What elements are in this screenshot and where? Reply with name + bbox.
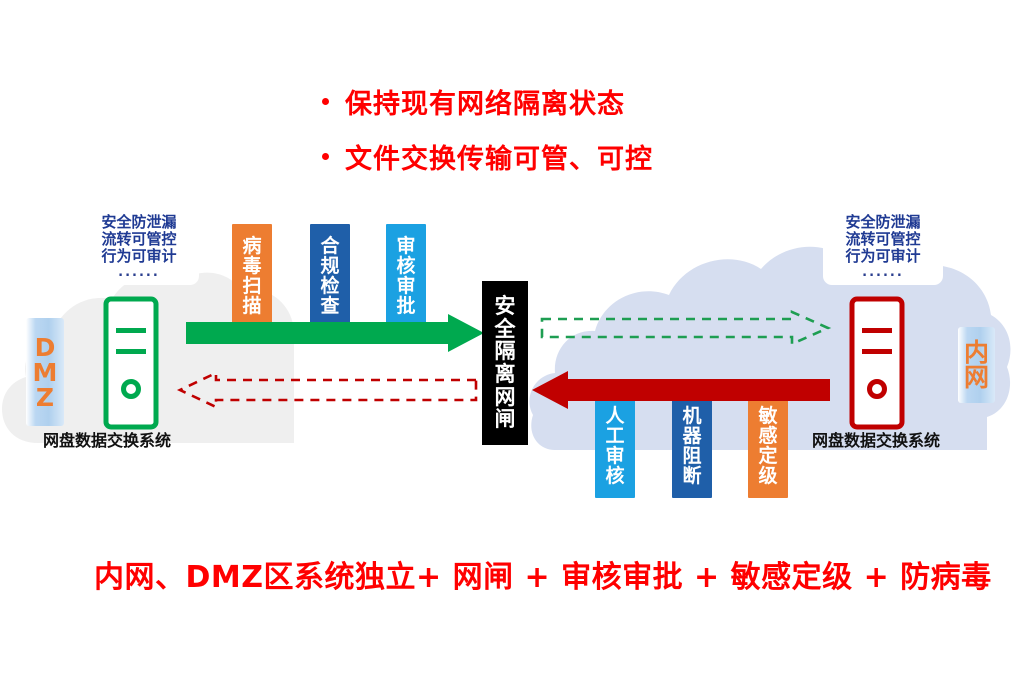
chip-char: 核 — [605, 466, 624, 486]
right-callout-line-1: 安全防泄漏 — [831, 214, 935, 231]
chip-char: 工 — [605, 426, 624, 446]
chip-char: 扫 — [242, 276, 261, 296]
left-callout-line-1: 安全防泄漏 — [87, 214, 191, 231]
left-callout: 安全防泄漏 流转可管控 行为可审计 ...... — [79, 209, 199, 285]
chip-char: 定 — [758, 446, 777, 466]
chip-char: 审 — [396, 276, 415, 296]
right-cloud-caption: 网盘数据交换系统 — [812, 427, 940, 451]
chip-char: 规 — [320, 256, 339, 276]
right-server-icon — [849, 296, 905, 434]
gateway-char: 闸 — [495, 408, 516, 431]
control-chip-virus-scan[interactable]: 病 毒 扫 描 — [232, 224, 272, 328]
left-callout-line-3: 行为可审计 — [87, 248, 191, 265]
control-chip-machine-block[interactable]: 机 器 阻 断 — [672, 394, 712, 498]
bullet-text-1: 保持现有网络隔离状态 — [345, 82, 625, 121]
gateway-char: 隔 — [495, 340, 516, 363]
bullet-dot-icon — [322, 98, 329, 105]
zone-chip-intranet: 内 网 — [958, 327, 995, 403]
flow-arrow-upload-solid-green — [186, 314, 486, 352]
zone-chip-letter: 内 — [964, 340, 989, 365]
left-callout-line-2: 流转可管控 — [87, 231, 191, 248]
gateway-char: 安 — [495, 295, 516, 318]
right-callout-line-3: 行为可审计 — [831, 248, 935, 265]
chip-char: 感 — [758, 426, 777, 446]
zone-chip-letter: Z — [36, 385, 54, 410]
zone-chip-letter: 网 — [964, 365, 989, 390]
bullet-text-2: 文件交换传输可管、可控 — [345, 137, 653, 176]
zone-chip-letter: M — [33, 360, 58, 385]
chip-char: 阻 — [682, 446, 701, 466]
security-gateway-box[interactable]: 安 全 隔 离 网 闸 — [482, 281, 528, 445]
chip-char: 级 — [758, 466, 777, 486]
left-cloud-caption: 网盘数据交换系统 — [43, 427, 171, 451]
control-chip-sensitivity-grading[interactable]: 敏 感 定 级 — [748, 394, 788, 498]
footer-summary: 内网、DMZ区系统独立+ 网闸 + 审核审批 + 敏感定级 + 防病毒 — [94, 552, 992, 596]
bullet-item-1: 保持现有网络隔离状态 — [322, 82, 625, 121]
bullet-item-2: 文件交换传输可管、可控 — [322, 137, 653, 176]
right-callout: 安全防泄漏 流转可管控 行为可审计 ...... — [823, 209, 943, 285]
chip-char: 断 — [682, 466, 701, 486]
chip-char: 毒 — [242, 256, 261, 276]
left-callout-dots: ...... — [87, 266, 191, 281]
chip-char: 器 — [682, 426, 701, 446]
control-chip-compliance-check[interactable]: 合 规 检 查 — [310, 224, 350, 328]
gateway-char: 网 — [495, 386, 516, 409]
left-server-icon — [103, 296, 159, 434]
chip-char: 审 — [605, 446, 624, 466]
control-chip-review-approval[interactable]: 审 核 审 批 — [386, 224, 426, 328]
diagram-canvas: 保持现有网络隔离状态 文件交换传输可管、可控 D M Z 安全防泄漏 流转可管控… — [0, 0, 1015, 675]
chip-char: 合 — [320, 236, 339, 256]
right-callout-line-2: 流转可管控 — [831, 231, 935, 248]
chip-char: 病 — [242, 236, 261, 256]
flow-arrow-download-solid-red — [530, 371, 830, 409]
zone-chip-letter: D — [35, 335, 56, 360]
control-chip-manual-review[interactable]: 人 工 审 核 — [595, 394, 635, 498]
gateway-char: 离 — [495, 363, 516, 386]
zone-chip-dmz: D M Z — [26, 318, 64, 426]
bullet-dot-icon — [322, 153, 329, 160]
flow-arrow-deliver-dashed-green — [540, 310, 830, 346]
chip-char: 核 — [396, 256, 415, 276]
chip-char: 检 — [320, 276, 339, 296]
gateway-char: 全 — [495, 318, 516, 341]
flow-arrow-return-dashed-red — [178, 372, 478, 408]
right-callout-dots: ...... — [831, 266, 935, 281]
chip-char: 审 — [396, 236, 415, 256]
